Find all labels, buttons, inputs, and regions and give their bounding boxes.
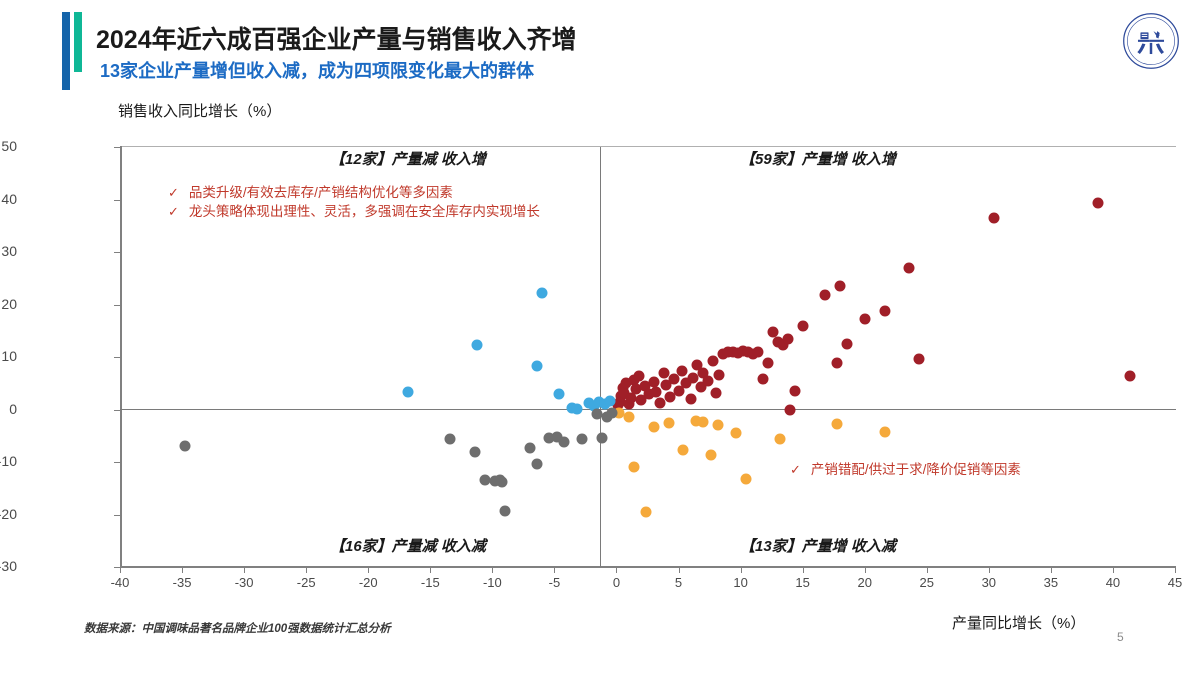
x-axis-title: 产量同比增长（%） [952, 612, 1085, 633]
y-axis-tick-label: 30 [1, 243, 17, 259]
data-point [785, 404, 796, 415]
accent-bar-teal [74, 12, 82, 72]
data-point [643, 389, 654, 400]
data-point [1093, 197, 1104, 208]
data-point [859, 313, 870, 324]
scatter-chart: 销售收入同比增长（%） 产量同比增长（%） 50403020100-10-20-… [0, 0, 1200, 675]
data-point [904, 262, 915, 273]
x-axis-tick-mark [989, 566, 990, 573]
data-point [640, 381, 651, 392]
data-point [633, 371, 644, 382]
data-point [703, 376, 714, 387]
annotation-decline-drivers: ✓产销错配/供过于求/降价促销等因素 [790, 460, 1021, 479]
data-point [728, 346, 739, 357]
data-point [1125, 371, 1136, 382]
data-point [532, 361, 543, 372]
data-source-note: 数据来源：中国调味品著名品牌企业100强数据统计汇总分析 [84, 620, 391, 636]
x-axis-tick-label: -20 [359, 575, 378, 590]
x-axis-tick-mark [1051, 566, 1052, 573]
data-point [730, 427, 741, 438]
data-point [648, 421, 659, 432]
x-axis-tick-label: -25 [297, 575, 316, 590]
annotation-line: ✓产销错配/供过于求/降价促销等因素 [790, 460, 1021, 479]
x-axis-tick-label: 25 [920, 575, 934, 590]
x-axis-tick-mark [741, 566, 742, 573]
quadrant-label-q4: 【13家】产量增 收入减 [740, 535, 896, 556]
page-title: 2024年近六成百强企业产量与销售收入齐增 [96, 20, 577, 56]
data-point [494, 474, 505, 485]
data-point [988, 213, 999, 224]
data-point [775, 433, 786, 444]
data-point [752, 347, 763, 358]
data-point [708, 356, 719, 367]
data-point [661, 380, 672, 391]
y-axis-tick-mark [114, 462, 121, 463]
x-axis-tick-mark [182, 566, 183, 573]
annotation-text: 龙头策略体现出理性、灵活，多强调在安全库存内实现增长 [189, 202, 540, 221]
data-point [576, 433, 587, 444]
data-point [748, 348, 759, 359]
data-point [631, 384, 642, 395]
x-axis-tick-label: -5 [549, 575, 561, 590]
data-point [618, 387, 629, 398]
data-point [559, 437, 570, 448]
y-axis-tick-label: 20 [1, 296, 17, 312]
plot-top-border [120, 146, 1176, 147]
checkmark-icon: ✓ [168, 202, 179, 221]
data-point [740, 473, 751, 484]
data-point [723, 347, 734, 358]
data-point [713, 420, 724, 431]
data-point [651, 386, 662, 397]
data-point [621, 378, 632, 389]
data-point [767, 326, 778, 337]
annotation-line: ✓龙头策略体现出理性、灵活，多强调在安全库存内实现增长 [168, 202, 540, 221]
data-point [616, 390, 627, 401]
data-point [680, 377, 691, 388]
data-point [469, 446, 480, 457]
x-axis-tick-mark [927, 566, 928, 573]
data-point [790, 386, 801, 397]
x-axis-tick-label: 40 [1106, 575, 1120, 590]
quadrant-label-q1: 【59家】产量增 收入增 [740, 148, 896, 169]
quadrant-label-q2: 【12家】产量减 收入增 [330, 148, 486, 169]
data-point [615, 396, 626, 407]
x-axis-tick-mark [368, 566, 369, 573]
data-point [594, 397, 605, 408]
annotation-growth-drivers: ✓品类升级/有效去库存/产销结构优化等多因素✓龙头策略体现出理性、灵活，多强调在… [168, 183, 540, 221]
data-point [698, 367, 709, 378]
annotation-line: ✓品类升级/有效去库存/产销结构优化等多因素 [168, 183, 540, 202]
data-point [832, 419, 843, 430]
data-point [743, 346, 754, 357]
data-point [678, 445, 689, 456]
data-point [705, 449, 716, 460]
data-point [537, 288, 548, 299]
zero-horizontal-reference-line [120, 409, 1176, 410]
y-axis-tick-mark [114, 147, 121, 148]
data-point [762, 358, 773, 369]
data-point [497, 476, 508, 487]
data-point [596, 432, 607, 443]
data-point [658, 368, 669, 379]
data-point [782, 334, 793, 345]
data-point [601, 411, 612, 422]
x-axis-tick-mark [430, 566, 431, 573]
x-axis-tick-mark [244, 566, 245, 573]
data-point [179, 440, 190, 451]
data-point [710, 388, 721, 399]
x-axis-tick-label: 10 [733, 575, 747, 590]
data-point [914, 354, 925, 365]
data-point [879, 306, 890, 317]
data-point [714, 369, 725, 380]
data-point [636, 395, 647, 406]
y-axis-tick-mark [114, 200, 121, 201]
data-point [688, 373, 699, 384]
x-axis-tick-label: 5 [675, 575, 682, 590]
data-point [772, 337, 783, 348]
data-point [479, 474, 490, 485]
data-point [402, 386, 413, 397]
data-point [571, 403, 582, 414]
annotation-text: 品类升级/有效去库存/产销结构优化等多因素 [189, 183, 453, 202]
slide-root: 2024年近六成百强企业产量与销售收入齐增 13家企业产量增但收入减，成为四项限… [0, 0, 1200, 675]
checkmark-icon: ✓ [168, 183, 179, 202]
data-point [626, 392, 637, 403]
y-axis-tick-label: -10 [0, 453, 17, 469]
data-point [834, 280, 845, 291]
x-axis-tick-label: -30 [235, 575, 254, 590]
data-point [551, 431, 562, 442]
data-point [612, 400, 623, 411]
annotation-text: 产销错配/供过于求/降价促销等因素 [811, 460, 1021, 479]
data-point [757, 373, 768, 384]
data-point [777, 340, 788, 351]
checkmark-icon: ✓ [790, 460, 801, 479]
data-point [677, 365, 688, 376]
data-point [738, 345, 749, 356]
organization-logo-icon [1120, 10, 1182, 72]
data-point [584, 398, 595, 409]
x-axis-tick-label: -35 [173, 575, 192, 590]
x-axis-tick-mark [616, 566, 617, 573]
data-point [613, 407, 624, 418]
x-axis-tick-mark [492, 566, 493, 573]
x-axis-tick-label: 35 [1044, 575, 1058, 590]
data-point [641, 507, 652, 518]
data-point [445, 433, 456, 444]
x-axis-line [120, 566, 1176, 568]
x-axis-tick-mark [679, 566, 680, 573]
data-point [566, 403, 577, 414]
data-point [472, 339, 483, 350]
data-point [673, 385, 684, 396]
data-point [554, 388, 565, 399]
x-axis-tick-label: 30 [982, 575, 996, 590]
x-axis-tick-label: -40 [111, 575, 130, 590]
data-point [664, 391, 675, 402]
data-point [617, 382, 628, 393]
data-point [532, 459, 543, 470]
data-point [690, 416, 701, 427]
data-point [685, 394, 696, 405]
y-axis-tick-mark [114, 410, 121, 411]
quadrant-label-q3: 【16家】产量减 收入减 [330, 535, 486, 556]
data-point [600, 399, 611, 410]
x-axis-tick-mark [306, 566, 307, 573]
data-point [489, 475, 500, 486]
data-point [695, 382, 706, 393]
x-axis-tick-label: 0 [613, 575, 620, 590]
data-point [544, 432, 555, 443]
y-axis-tick-mark [114, 305, 121, 306]
x-axis-tick-label: -10 [483, 575, 502, 590]
data-point [733, 347, 744, 358]
data-point [628, 375, 639, 386]
data-point [797, 320, 808, 331]
page-subtitle: 13家企业产量增但收入减，成为四项限变化最大的群体 [100, 57, 534, 83]
data-point [648, 377, 659, 388]
x-axis-tick-mark [120, 566, 121, 573]
y-axis-tick-mark [114, 567, 121, 568]
data-point [819, 290, 830, 301]
y-axis-tick-label: 40 [1, 191, 17, 207]
data-point [842, 339, 853, 350]
x-axis-tick-mark [1113, 566, 1114, 573]
y-axis-tick-label: 0 [9, 401, 17, 417]
zero-vertical-reference-line [600, 147, 601, 567]
y-axis-tick-label: -20 [0, 506, 17, 522]
data-point [524, 443, 535, 454]
data-point [718, 348, 729, 359]
data-point [605, 396, 616, 407]
data-point [663, 417, 674, 428]
x-axis-tick-label: 45 [1168, 575, 1182, 590]
x-axis-tick-mark [803, 566, 804, 573]
slide-header: 2024年近六成百强企业产量与销售收入齐增 13家企业产量增但收入减，成为四项限… [0, 0, 1200, 96]
data-point [499, 506, 510, 517]
x-axis-tick-mark [554, 566, 555, 573]
data-point [589, 401, 600, 412]
data-point [623, 399, 634, 410]
data-point [692, 359, 703, 370]
x-axis-tick-mark [865, 566, 866, 573]
y-axis-title: 销售收入同比增长（%） [118, 100, 281, 121]
y-axis-tick-label: 50 [1, 138, 17, 154]
data-point [879, 426, 890, 437]
data-point [668, 374, 679, 385]
data-point [606, 408, 617, 419]
y-axis-line [120, 146, 122, 568]
data-point [698, 417, 709, 428]
x-axis-tick-mark [1175, 566, 1176, 573]
y-axis-tick-mark [114, 357, 121, 358]
x-axis-tick-label: 20 [857, 575, 871, 590]
y-axis-tick-label: -30 [0, 558, 17, 574]
data-point [591, 408, 602, 419]
y-axis-tick-mark [114, 252, 121, 253]
y-axis-tick-mark [114, 515, 121, 516]
x-axis-tick-label: -15 [421, 575, 440, 590]
accent-bar-blue [62, 12, 70, 90]
data-point [623, 412, 634, 423]
page-number: 5 [1117, 630, 1124, 644]
y-axis-tick-label: 10 [1, 348, 17, 364]
data-point [654, 398, 665, 409]
data-point [628, 462, 639, 473]
x-axis-tick-label: 15 [795, 575, 809, 590]
data-point [832, 357, 843, 368]
